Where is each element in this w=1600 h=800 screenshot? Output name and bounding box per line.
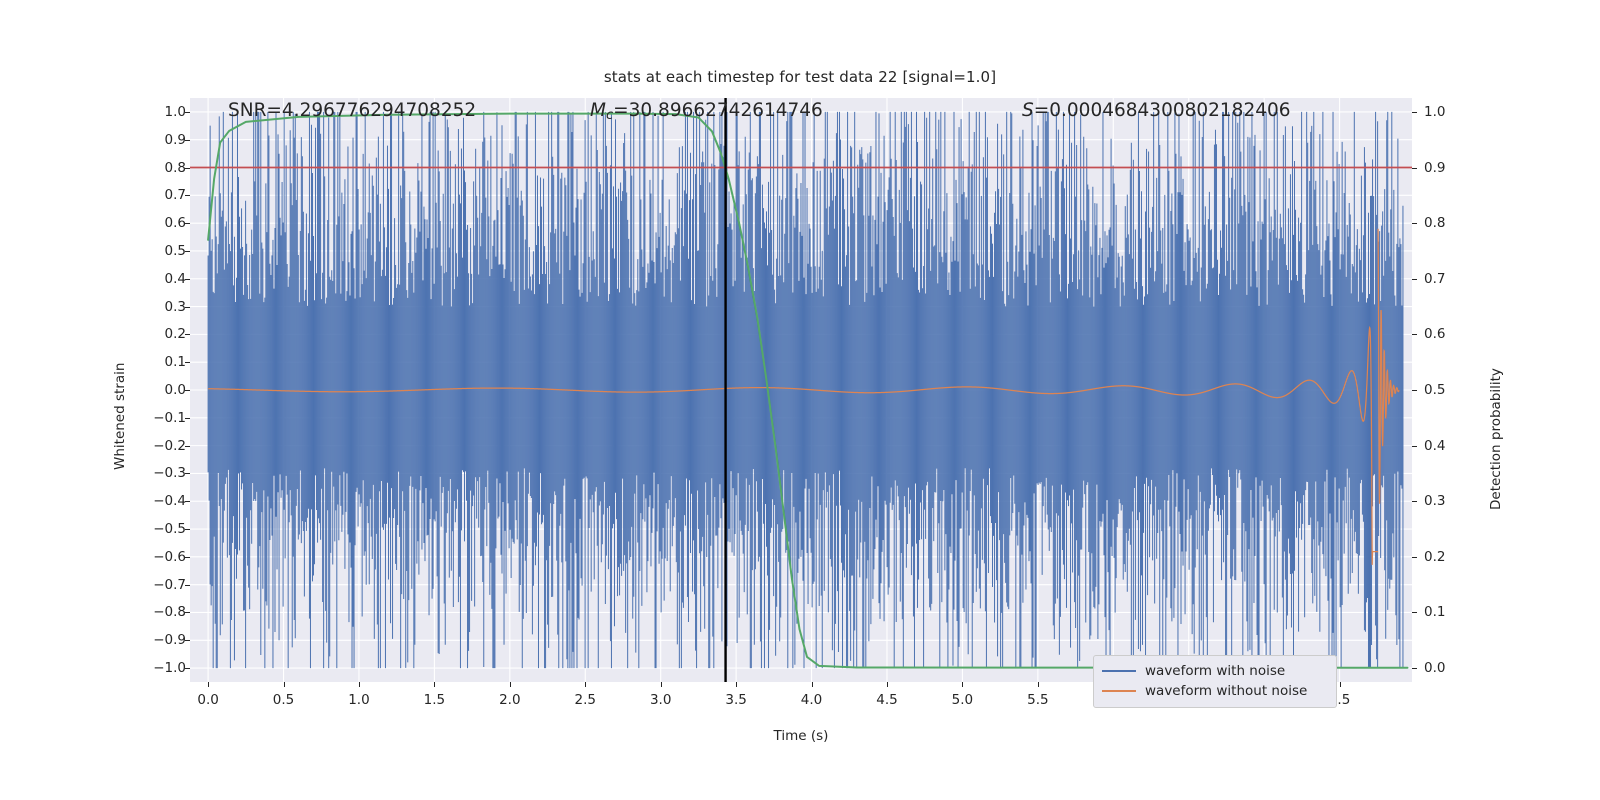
plot-svg bbox=[190, 98, 1412, 682]
y-tick-mark-right bbox=[1412, 223, 1417, 224]
legend-label: waveform without noise bbox=[1145, 683, 1307, 699]
y-tick-label-right: 0.4 bbox=[1424, 438, 1484, 454]
y-tick-label-left: −0.3 bbox=[126, 465, 186, 481]
y-tick-label-right: 0.3 bbox=[1424, 493, 1484, 509]
y-tick-mark-left bbox=[185, 223, 190, 224]
y-tick-mark-left bbox=[185, 473, 190, 474]
y-tick-label-right: 1.0 bbox=[1424, 104, 1484, 120]
y-tick-label-left: −0.9 bbox=[126, 632, 186, 648]
y-tick-mark-left bbox=[185, 446, 190, 447]
y-tick-mark-left bbox=[185, 140, 190, 141]
y-tick-mark-right bbox=[1412, 112, 1417, 113]
y-tick-label-left: 0.4 bbox=[126, 271, 186, 287]
y-tick-label-right: 0.9 bbox=[1424, 160, 1484, 176]
y-tick-mark-left bbox=[185, 501, 190, 502]
y-tick-label-left: −0.5 bbox=[126, 521, 186, 537]
y-axis-label-right: Detection probability bbox=[1488, 368, 1504, 510]
legend-swatch-waveform-without-noise bbox=[1102, 690, 1136, 692]
y-tick-label-left: 0.9 bbox=[126, 132, 186, 148]
y-tick-mark-right bbox=[1412, 390, 1417, 391]
y-tick-label-left: 1.0 bbox=[126, 104, 186, 120]
y-tick-label-right: 0.2 bbox=[1424, 549, 1484, 565]
y-tick-mark-left bbox=[185, 307, 190, 308]
legend-label: waveform with noise bbox=[1145, 663, 1285, 679]
legend-swatch-waveform-with-noise bbox=[1102, 670, 1136, 672]
x-tick-mark bbox=[962, 682, 963, 687]
y-tick-mark-left bbox=[185, 668, 190, 669]
y-tick-mark-left bbox=[185, 195, 190, 196]
x-tick-mark bbox=[661, 682, 662, 687]
x-tick-mark bbox=[1340, 682, 1341, 687]
x-tick-label: 5.5 bbox=[1027, 692, 1048, 708]
y-tick-label-left: 0.5 bbox=[126, 243, 186, 259]
x-tick-label: 2.5 bbox=[575, 692, 596, 708]
figure-canvas: stats at each timestep for test data 22 … bbox=[0, 0, 1600, 800]
y-tick-mark-right bbox=[1412, 279, 1417, 280]
y-tick-label-left: 0.7 bbox=[126, 187, 186, 203]
plot-area[interactable] bbox=[190, 98, 1412, 682]
y-tick-mark-left bbox=[185, 418, 190, 419]
x-tick-label: 0.0 bbox=[197, 692, 218, 708]
x-tick-mark bbox=[359, 682, 360, 687]
y-tick-label-left: −0.2 bbox=[126, 438, 186, 454]
x-tick-label: 0.5 bbox=[273, 692, 294, 708]
y-tick-label-left: 0.3 bbox=[126, 299, 186, 315]
legend-item[interactable]: waveform without noise bbox=[1102, 681, 1328, 701]
x-tick-mark bbox=[434, 682, 435, 687]
y-tick-mark-left bbox=[185, 612, 190, 613]
chart-title: stats at each timestep for test data 22 … bbox=[0, 68, 1600, 86]
y-tick-mark-left bbox=[185, 334, 190, 335]
y-tick-mark-left bbox=[185, 251, 190, 252]
y-tick-mark-right bbox=[1412, 668, 1417, 669]
y-tick-mark-right bbox=[1412, 168, 1417, 169]
y-tick-mark-left bbox=[185, 390, 190, 391]
x-tick-label: 4.5 bbox=[876, 692, 897, 708]
y-tick-mark-left bbox=[185, 112, 190, 113]
x-tick-mark bbox=[510, 682, 511, 687]
x-tick-mark bbox=[585, 682, 586, 687]
y-tick-label-left: −0.8 bbox=[126, 604, 186, 620]
y-tick-label-right: 0.7 bbox=[1424, 271, 1484, 287]
y-tick-mark-right bbox=[1412, 501, 1417, 502]
x-tick-mark bbox=[284, 682, 285, 687]
y-tick-mark-left bbox=[185, 557, 190, 558]
x-tick-label: 2.0 bbox=[499, 692, 520, 708]
y-tick-label-left: 0.8 bbox=[126, 160, 186, 176]
x-tick-mark bbox=[736, 682, 737, 687]
y-tick-label-left: 0.1 bbox=[126, 354, 186, 370]
y-tick-label-left: −0.1 bbox=[126, 410, 186, 426]
y-tick-label-right: 0.6 bbox=[1424, 326, 1484, 342]
x-tick-mark bbox=[208, 682, 209, 687]
y-tick-mark-right bbox=[1412, 612, 1417, 613]
x-tick-label: 5.0 bbox=[952, 692, 973, 708]
x-tick-label: 4.0 bbox=[801, 692, 822, 708]
y-tick-mark-left bbox=[185, 362, 190, 363]
y-tick-mark-left bbox=[185, 279, 190, 280]
x-tick-label: 1.0 bbox=[348, 692, 369, 708]
x-tick-mark bbox=[887, 682, 888, 687]
x-tick-mark bbox=[1038, 682, 1039, 687]
y-tick-label-left: −0.4 bbox=[126, 493, 186, 509]
y-tick-label-right: 0.5 bbox=[1424, 382, 1484, 398]
x-tick-label: 3.5 bbox=[725, 692, 746, 708]
y-tick-mark-right bbox=[1412, 557, 1417, 558]
y-tick-label-left: 0.0 bbox=[126, 382, 186, 398]
y-tick-mark-left bbox=[185, 585, 190, 586]
y-tick-label-left: −0.7 bbox=[126, 577, 186, 593]
y-tick-label-left: −1.0 bbox=[126, 660, 186, 676]
x-tick-label: 3.0 bbox=[650, 692, 671, 708]
x-tick-mark bbox=[812, 682, 813, 687]
annotation-chirp-mass: Mc=30.89662742614746 bbox=[590, 100, 823, 123]
y-tick-label-right: 0.1 bbox=[1424, 604, 1484, 620]
y-tick-label-left: 0.2 bbox=[126, 326, 186, 342]
y-tick-mark-left bbox=[185, 640, 190, 641]
y-tick-mark-right bbox=[1412, 446, 1417, 447]
y-tick-label-left: 0.6 bbox=[126, 215, 186, 231]
x-tick-label: 1.5 bbox=[424, 692, 445, 708]
y-tick-label-right: 0.0 bbox=[1424, 660, 1484, 676]
annotation-snr: SNR=4.296776294708252 bbox=[228, 100, 476, 121]
x-axis-label: Time (s) bbox=[190, 728, 1412, 744]
y-tick-mark-left bbox=[185, 168, 190, 169]
legend: waveform with noise waveform without noi… bbox=[1093, 655, 1337, 708]
y-tick-label-left: −0.6 bbox=[126, 549, 186, 565]
legend-item[interactable]: waveform with noise bbox=[1102, 661, 1328, 681]
y-tick-label-right: 0.8 bbox=[1424, 215, 1484, 231]
annotation-score: S=0.0004684300802182406 bbox=[1022, 100, 1291, 121]
y-tick-mark-left bbox=[185, 529, 190, 530]
y-tick-mark-right bbox=[1412, 334, 1417, 335]
